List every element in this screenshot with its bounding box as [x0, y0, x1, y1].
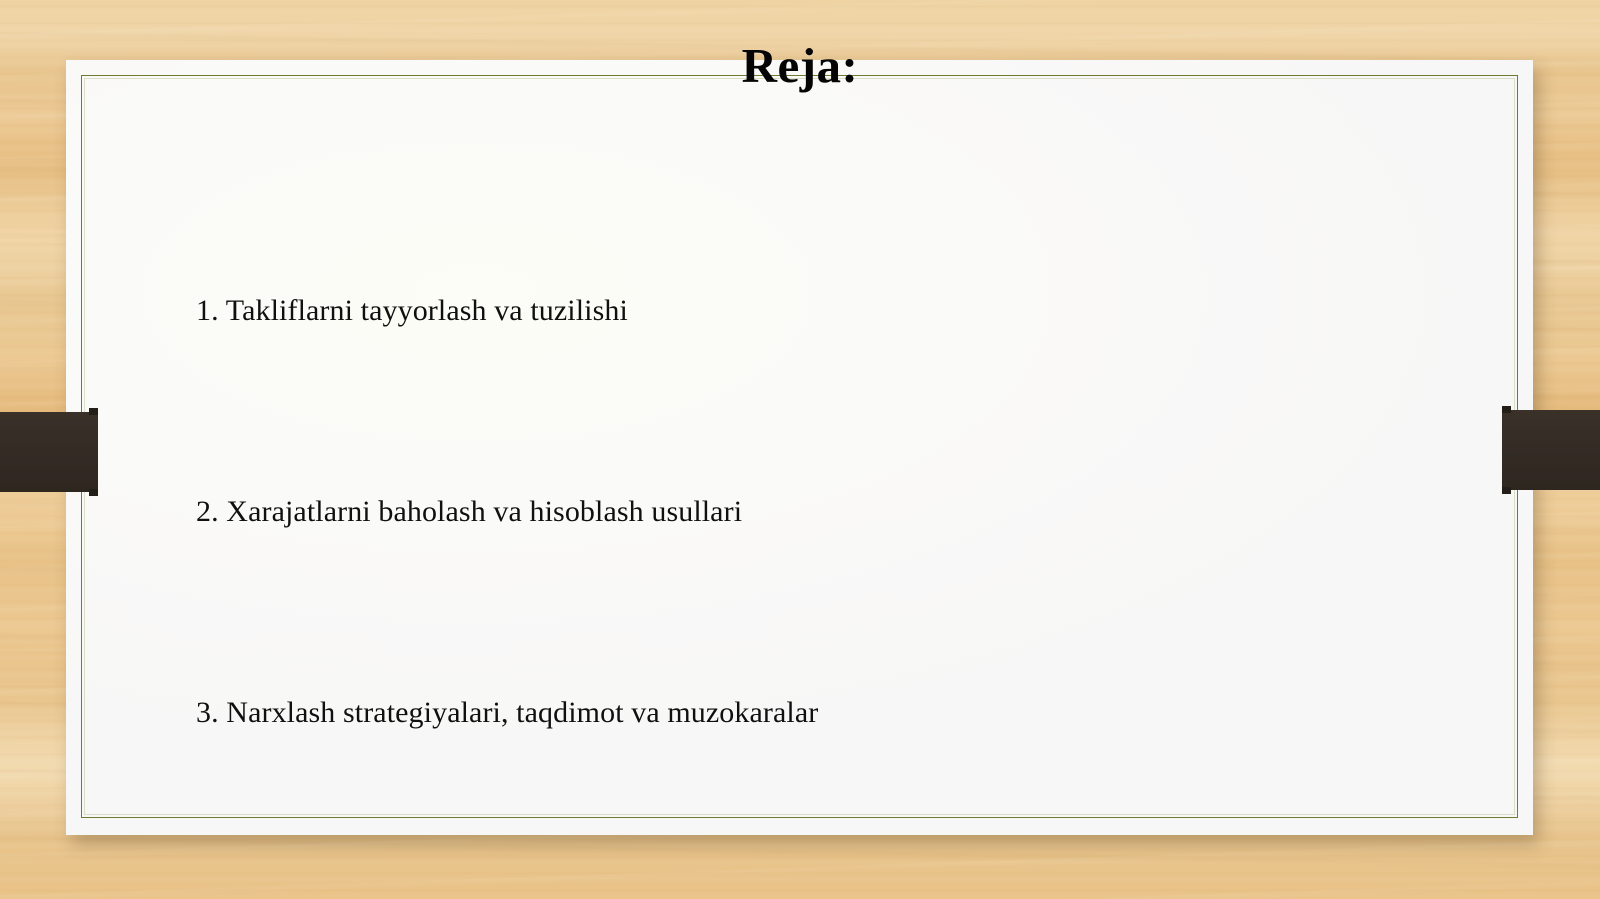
page-title: Reja:: [0, 41, 1600, 90]
left-side-tab: [0, 412, 98, 492]
right-tab-notch-bottom: [1502, 487, 1511, 494]
agenda-list: 1. Takliflarni tayyorlash va tuzilishi 2…: [196, 210, 1413, 813]
agenda-item-3-label: 3. Narxlash strategiyalari, taqdimot va …: [196, 694, 818, 732]
agenda-item-2-label: 2. Xarajatlarni baholash va hisoblash us…: [196, 493, 742, 531]
agenda-item-2: 2. Xarajatlarni baholash va hisoblash us…: [196, 411, 1413, 612]
left-tab-notch-top: [89, 408, 98, 415]
right-tab-notch-top: [1502, 406, 1511, 413]
agenda-item-1-label: 1. Takliflarni tayyorlash va tuzilishi: [196, 292, 628, 330]
left-tab-notch-bottom: [89, 489, 98, 496]
agenda-item-3: 3. Narxlash strategiyalari, taqdimot va …: [196, 612, 1413, 813]
agenda-item-1: 1. Takliflarni tayyorlash va tuzilishi: [196, 210, 1413, 411]
slide-card: 1. Takliflarni tayyorlash va tuzilishi 2…: [66, 60, 1533, 835]
right-side-tab: [1502, 410, 1600, 490]
